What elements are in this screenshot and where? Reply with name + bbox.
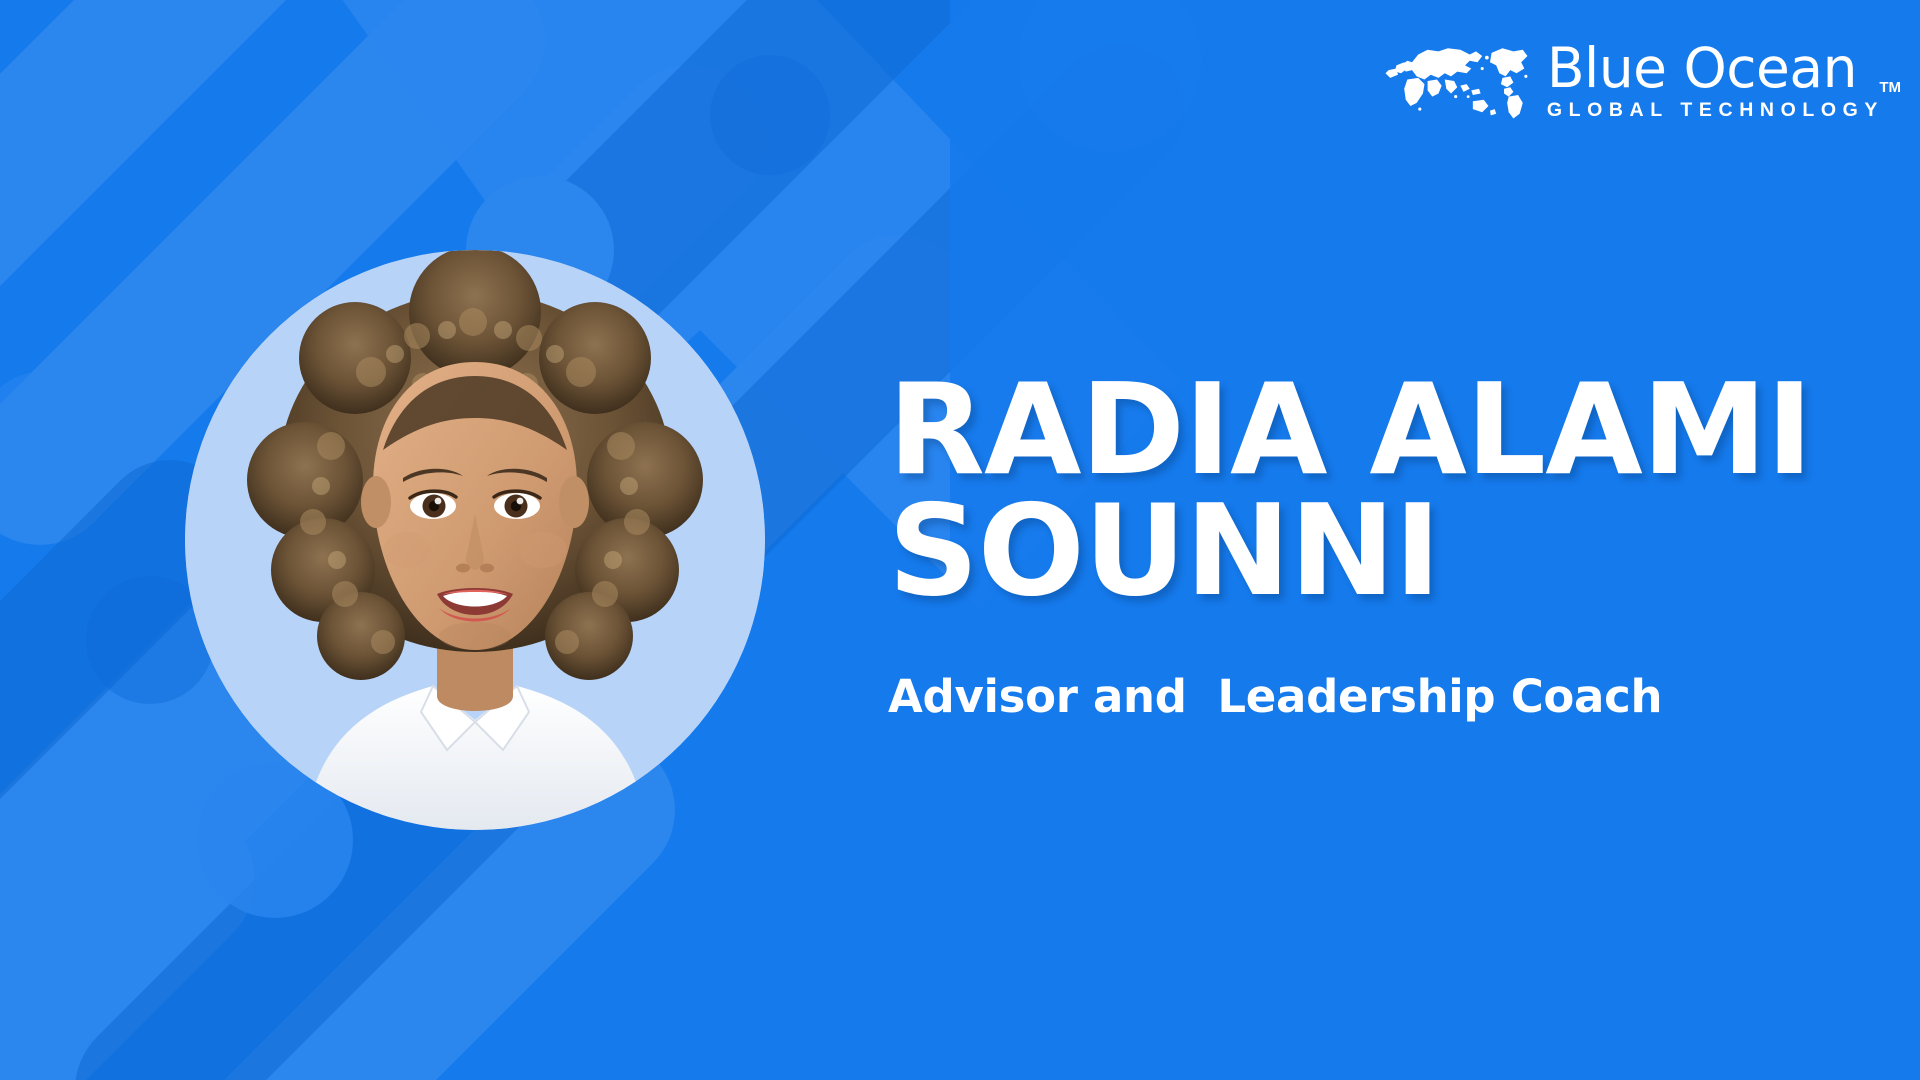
logo-tagline: GLOBAL TECHNOLOGY [1547, 99, 1884, 122]
logo-text-block: Blue Ocean GLOBAL TECHNOLOGY TM [1547, 40, 1884, 122]
person-portrait-photo [185, 250, 765, 830]
speaker-banner: Blue Ocean GLOBAL TECHNOLOGY TM [0, 0, 1920, 1080]
logo-name: Blue Ocean [1547, 42, 1884, 96]
speaker-name: RADIA ALAMI SOUNNI [888, 370, 1868, 612]
trademark-symbol: TM [1879, 79, 1901, 96]
brand-logo[interactable]: Blue Ocean GLOBAL TECHNOLOGY TM [1371, 40, 1884, 122]
speaker-role: Advisor and Leadership Coach [888, 670, 1868, 723]
speaker-info: RADIA ALAMI SOUNNI Advisor and Leadershi… [888, 370, 1868, 723]
world-map-icon [1371, 42, 1531, 120]
avatar [185, 250, 765, 830]
